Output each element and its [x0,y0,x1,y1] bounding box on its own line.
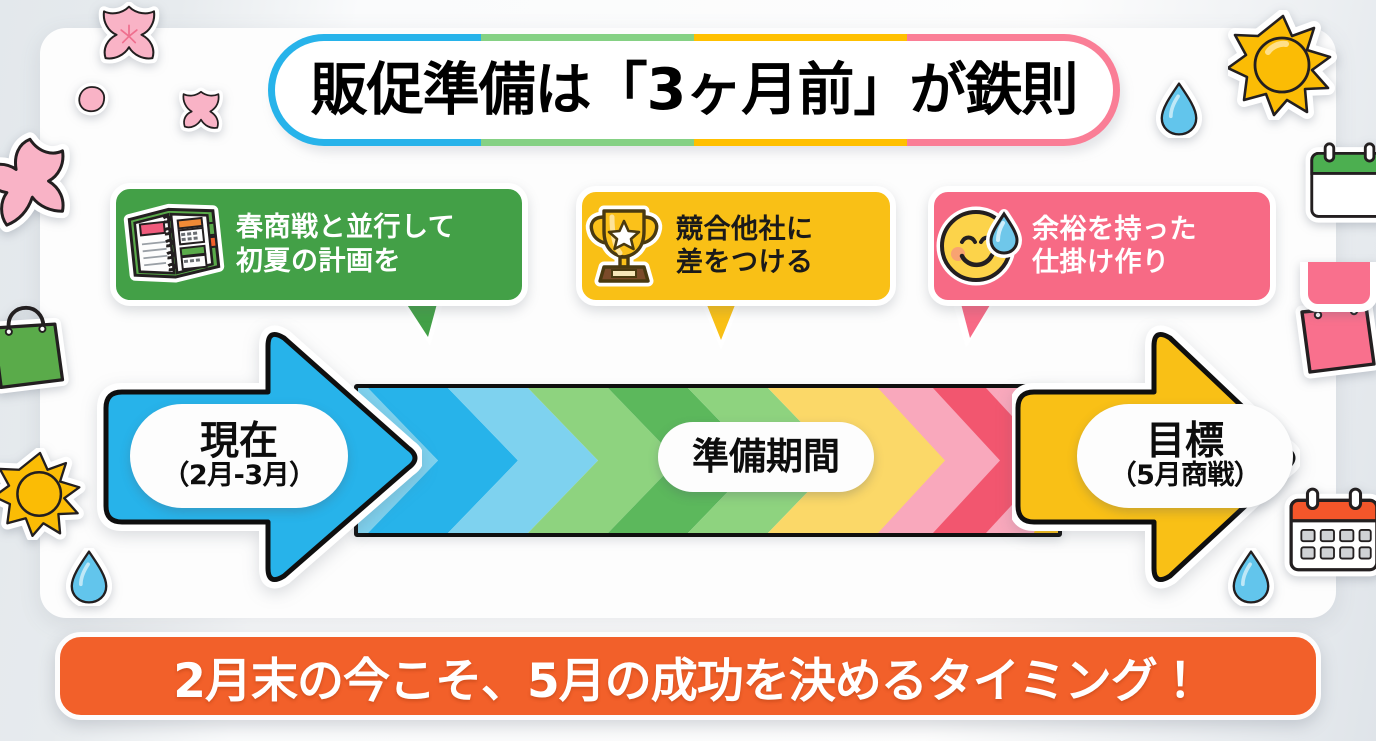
callout-bubble-yellow[interactable]: 競合他社に 差をつける [576,186,896,306]
stage-label-preparation: 準備期間 [658,422,874,492]
headline-banner: 販促準備は「3ヶ月前」が鉄則 [268,34,1120,146]
callout-bubble-pink[interactable]: 余裕を持った 仕掛け作り [928,186,1276,306]
sakura-blossom-icon [90,2,168,80]
footer-message: 2月末の今こそ、5月の成功を決めるタイミング！ [173,642,1202,711]
trophy-icon [582,201,666,291]
stage-label-current: 現在 （2月-3月） [130,404,348,508]
headline-color-ring: 販促準備は「3ヶ月前」が鉄則 [268,34,1120,146]
sweat-smile-icon [934,200,1022,292]
notebook-icon [122,197,226,293]
sakura-blossom-small-icon [172,86,230,144]
sakura-petal-icon [74,82,110,116]
infographic-canvas: 販促準備は「3ヶ月前」が鉄則 [0,0,1376,741]
sun-icon [1228,10,1338,120]
callout-bubble-green[interactable]: 春商戦と並行して 初夏の計画を [110,183,528,306]
sticker-card-pink [1300,262,1376,326]
water-drop-icon [1156,80,1202,138]
page-title: 販促準備は「3ヶ月前」が鉄則 [311,62,1078,119]
stage-label-goal: 目標 （5月商戦） [1077,404,1293,508]
shopping-bag-green-icon [0,302,74,398]
stage-title-goal: 目標 [1146,422,1224,462]
stage-title-preparation: 準備期間 [692,438,840,476]
callout-text-green: 春商戦と並行して 初夏の計画を [236,211,455,277]
callout-text-yellow: 競合他社に 差をつける [676,213,814,279]
sakura-blossom-large-icon [0,130,88,246]
stage-title-current: 現在 [200,422,278,462]
timeline: 現在 （2月-3月） 準備期間 目標 （5月商戦） [92,322,1300,592]
sun-icon [0,448,86,540]
callout-text-pink: 余裕を持った 仕掛け作り [1032,213,1197,279]
stage-period-goal: （5月商戦） [1110,462,1261,490]
footer-banner: 2月末の今こそ、5月の成功を決めるタイミング！ [55,632,1321,720]
stage-period-current: （2月-3月） [162,462,315,490]
calendar-green-icon [1304,140,1376,226]
